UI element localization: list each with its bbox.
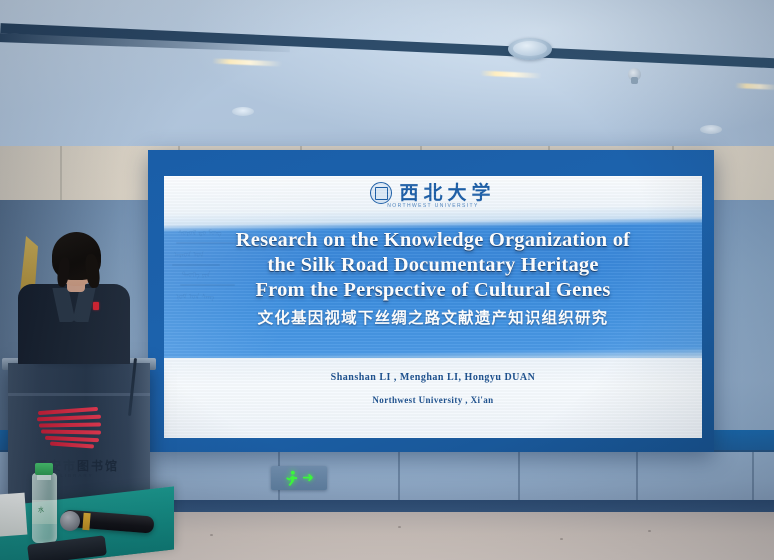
running-person-icon (284, 470, 299, 486)
title-line-1: Research on the Knowledge Organization o… (164, 228, 702, 253)
slide-subtitle-chinese: 文化基因视域下丝绸之路文献遗产知识组织研究 (164, 306, 702, 328)
slide-authors: Shanshan LI , Menghan LI, Hongyu DUAN (164, 372, 702, 383)
red-wave-stripes-icon (36, 409, 106, 447)
podium-label-visible: 图书馆 (77, 459, 119, 473)
university-logo: 西北大学 (164, 182, 702, 204)
university-seal-icon (370, 182, 392, 204)
sprinkler-head-icon (628, 68, 641, 81)
title-line-3: From the Perspective of Cultural Genes (164, 278, 702, 303)
bottle-label: 水 (32, 500, 57, 524)
emergency-exit-sign: ➜ (271, 466, 327, 490)
paper-sheet-icon (0, 493, 27, 538)
bottle-label-text: 水 (38, 505, 44, 514)
slide-affiliation: Northwest University , Xi'an (164, 395, 702, 405)
slide-title: Research on the Knowledge Organization o… (164, 228, 702, 303)
ceiling-glow (180, 0, 774, 150)
presenter-torso (18, 284, 130, 364)
microphone-gold-band (82, 513, 90, 530)
arrow-right-icon: ➜ (302, 471, 314, 485)
podium-trim (8, 393, 150, 396)
presentation-room-photo: ᠰᠣᠶᠣᠯ ᠳᠤ ᠮᠤᠩ ᠠᠷᠠᠳ ᠤᠨ ᠲᠡᠦᠬᠡ ᠶᠢᠨ ᠨᠣᠮ ᠤᠨ ᠰᠠ… (0, 0, 774, 560)
university-name-cn: 西北大学 (399, 184, 495, 203)
upper-wall-shadow (0, 146, 160, 206)
presenter (18, 232, 130, 364)
recessed-downlight-icon (232, 107, 254, 116)
title-line-2: the Silk Road Documentary Heritage (164, 253, 702, 278)
bottle-cap (35, 463, 53, 475)
red-lapel-badge-icon (93, 302, 99, 310)
university-name-en: NORTHWEST UNIVERSITY (164, 203, 702, 209)
projected-slide: ᠰᠣᠶᠣᠯ ᠳᠤ ᠮᠤᠩ ᠠᠷᠠᠳ ᠤᠨ ᠲᠡᠦᠬᠡ ᠶᠢᠨ ᠨᠣᠮ ᠤᠨ ᠰᠠ… (164, 176, 702, 438)
recessed-downlight-icon (700, 125, 722, 134)
ceiling-speaker-icon (508, 38, 552, 60)
